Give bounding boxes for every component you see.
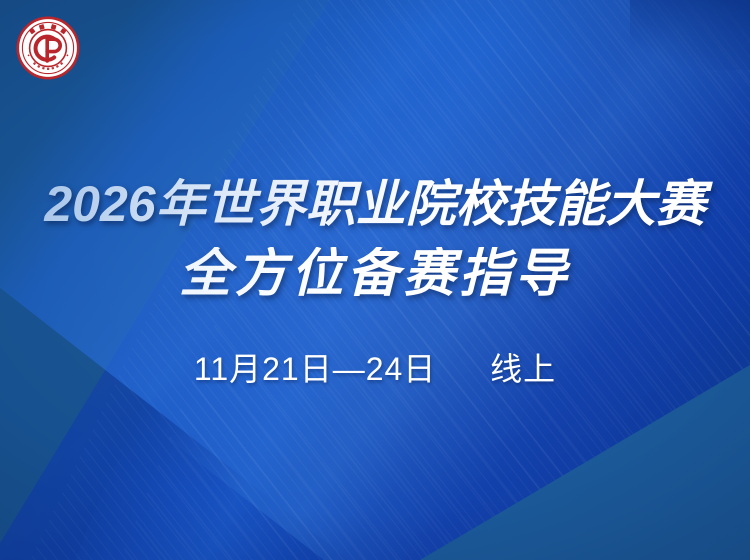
subtitle-date: 11月21日—24日 xyxy=(194,351,436,387)
title-line-1: 2026年世界职业院校技能大赛 xyxy=(0,178,750,231)
banner-title: 2026年世界职业院校技能大赛 全方位备赛指导 xyxy=(0,178,750,302)
institution-seal-logo xyxy=(16,16,80,80)
promotional-banner: 2026年世界职业院校技能大赛 全方位备赛指导 11月21日—24日 线上 xyxy=(0,0,750,560)
banner-subtitle: 11月21日—24日 线上 xyxy=(0,344,750,390)
subtitle-mode: 线上 xyxy=(490,351,556,387)
title-line-2: 全方位备赛指导 xyxy=(0,247,750,302)
